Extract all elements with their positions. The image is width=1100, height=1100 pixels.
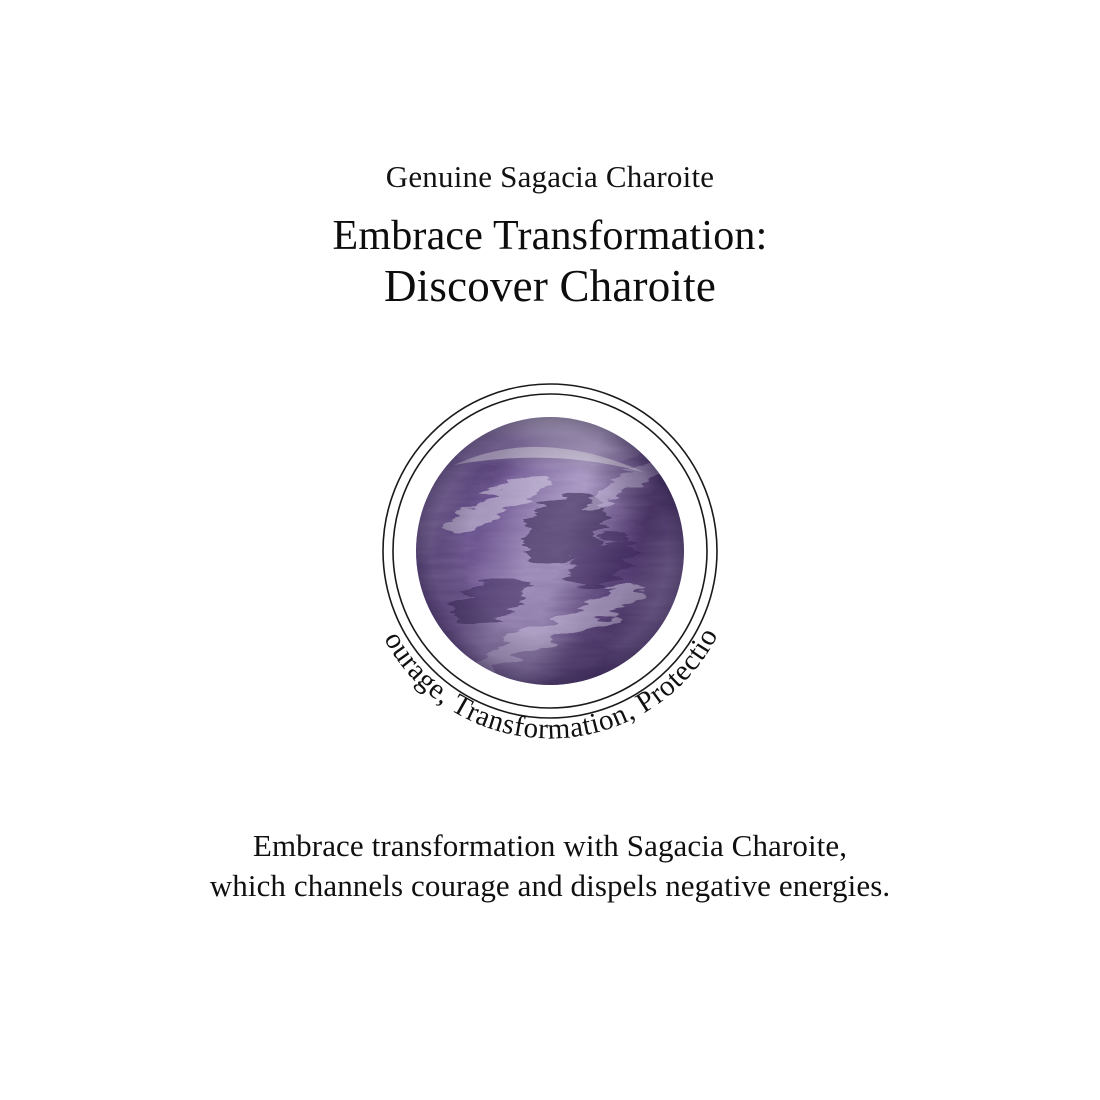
emblem-svg: Courage, Transformation, Protection (330, 331, 770, 771)
gem-stone (239, 240, 861, 862)
eyebrow-text: Genuine Sagacia Charoite (0, 160, 1100, 195)
gem-edge-shade (416, 417, 684, 685)
product-card: Genuine Sagacia Charoite Embrace Transfo… (0, 0, 1100, 1100)
header-block: Genuine Sagacia Charoite Embrace Transfo… (0, 160, 1100, 312)
title-line-2: Discover Charoite (0, 260, 1100, 312)
body-copy: Embrace transformation with Sagacia Char… (0, 826, 1100, 907)
page-title: Embrace Transformation: Discover Charoit… (0, 213, 1100, 312)
body-line-1: Embrace transformation with Sagacia Char… (0, 826, 1100, 866)
title-line-1: Embrace Transformation: (0, 213, 1100, 260)
body-line-2: which channels courage and dispels negat… (0, 866, 1100, 906)
